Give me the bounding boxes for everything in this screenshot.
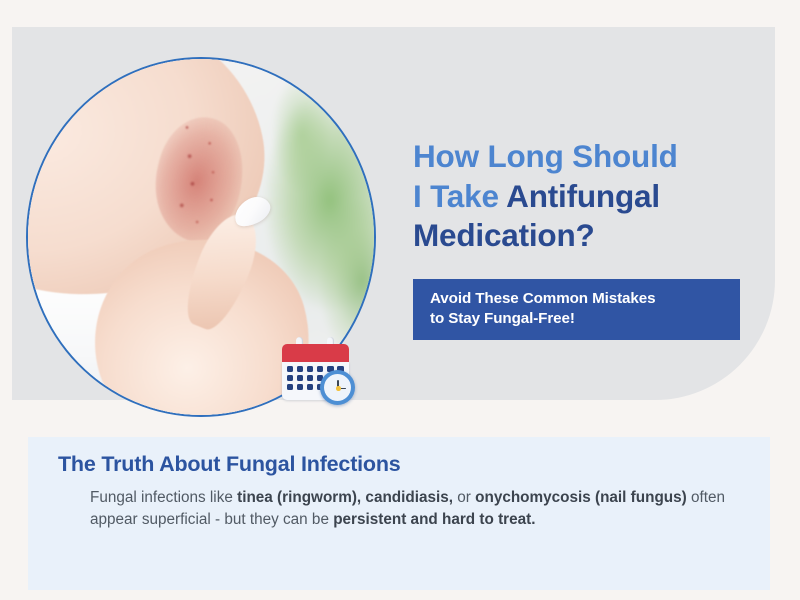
calendar-header xyxy=(282,344,349,362)
body-segment-3: or xyxy=(453,489,475,506)
calendar-date-square xyxy=(297,384,303,390)
calendar-date-square xyxy=(307,366,313,372)
truth-section-body: Fungal infections like tinea (ringworm),… xyxy=(90,487,746,532)
title-line-1: How Long Should xyxy=(413,138,678,174)
body-segment-4: onychomycosis (nail fungus) xyxy=(475,489,687,506)
page-title: How Long Should I Take Antifungal Medica… xyxy=(413,137,743,256)
calendar-date-square xyxy=(307,375,313,381)
banner-line-1: Avoid These Common Mistakes xyxy=(430,290,655,307)
banner-line-2: to Stay Fungal-Free! xyxy=(430,310,575,327)
calendar-date-square xyxy=(287,375,293,381)
body-segment-2: tinea (ringworm), candidiasis, xyxy=(237,489,453,506)
calendar-date-square xyxy=(297,375,303,381)
truth-section-panel: The Truth About Fungal Infections Fungal… xyxy=(28,437,770,590)
truth-section-heading: The Truth About Fungal Infections xyxy=(58,452,746,477)
hero-panel: How Long Should I Take Antifungal Medica… xyxy=(12,27,775,400)
calendar-date-square xyxy=(287,384,293,390)
body-segment-6: persistent and hard to treat. xyxy=(333,511,535,528)
title-line-2-light: I Take xyxy=(413,178,506,214)
calendar-date-square xyxy=(287,366,293,372)
calendar-date-square xyxy=(297,366,303,372)
subtitle-banner: Avoid These Common Mistakes to Stay Fung… xyxy=(413,279,740,340)
body-segment-1: Fungal infections like xyxy=(90,489,237,506)
calendar-date-square xyxy=(317,366,323,372)
calendar-date-square xyxy=(307,384,313,390)
clock-center-pin xyxy=(336,386,341,391)
clock-face xyxy=(324,374,351,401)
clock-icon xyxy=(320,370,355,405)
calendar-clock-icon xyxy=(282,337,356,407)
title-line-3: Medication? xyxy=(413,217,595,253)
title-line-2-dark: Antifungal xyxy=(506,178,660,214)
